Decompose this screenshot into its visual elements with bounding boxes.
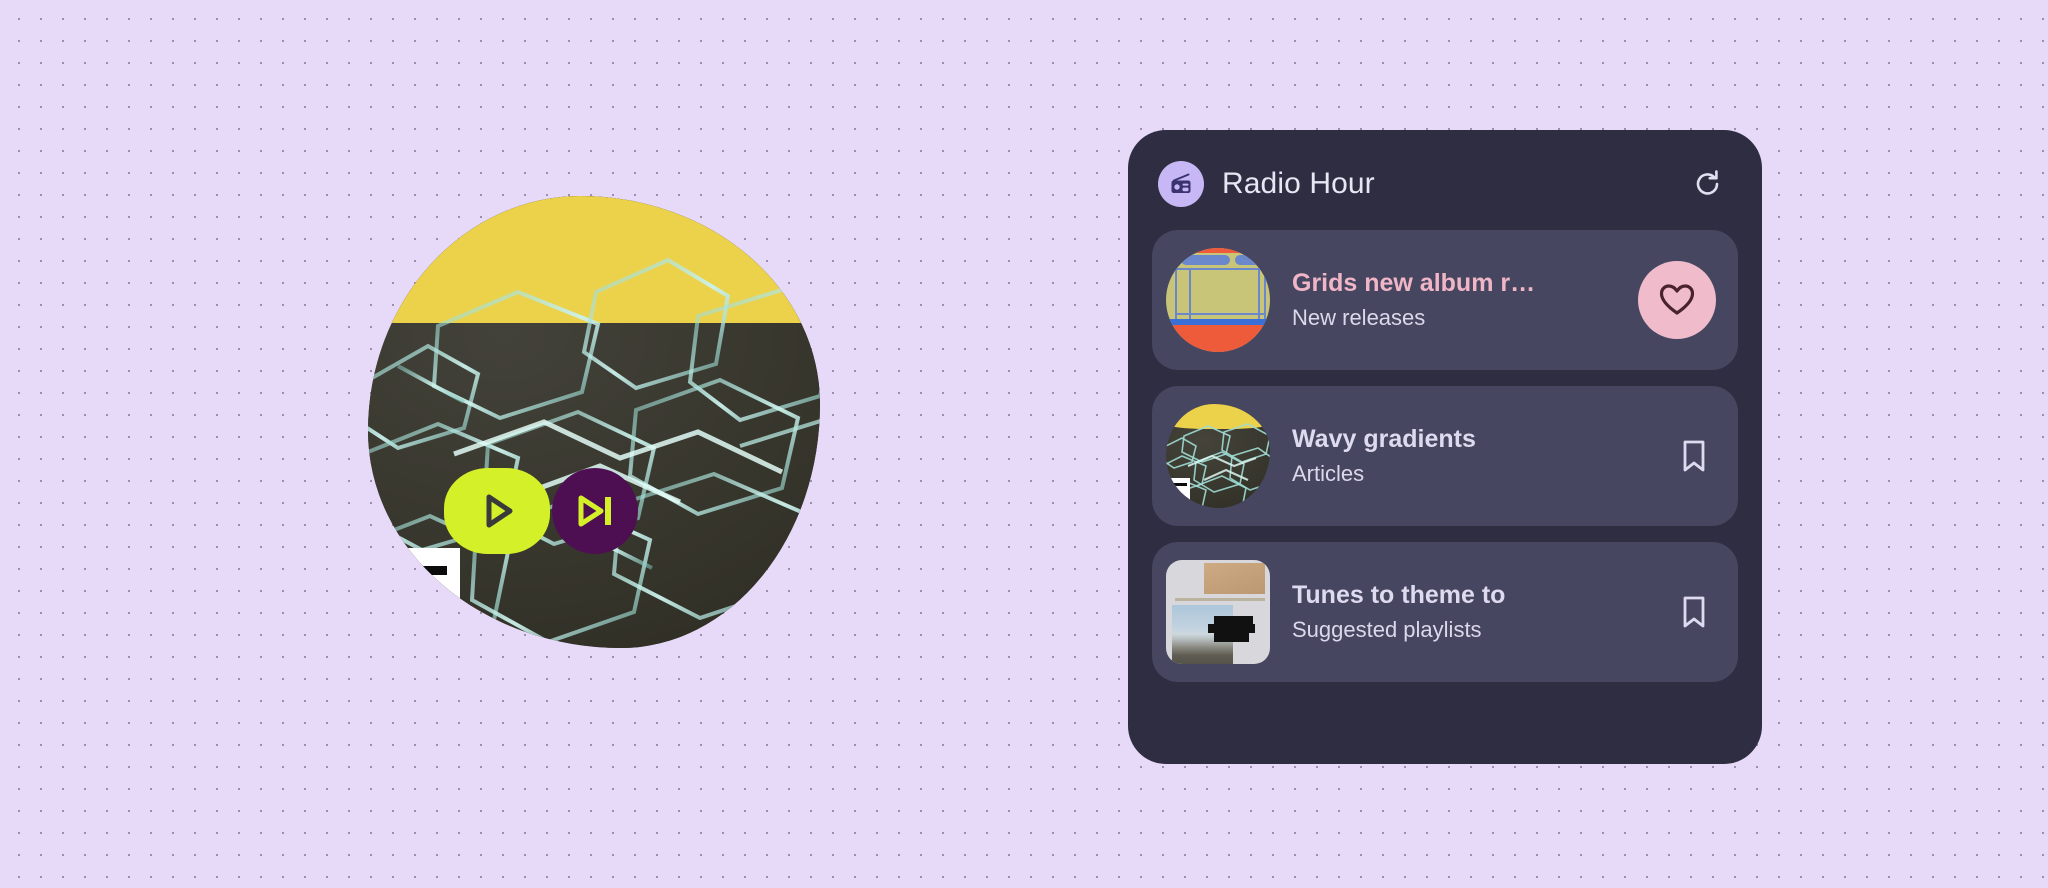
list-item-title: Wavy gradients: [1292, 424, 1672, 455]
album-artwork: [368, 196, 820, 648]
radio-hour-card: Radio Hour Grids new: [1128, 130, 1762, 764]
list-item-text: Grids new album r… New releases: [1292, 268, 1638, 332]
list-item-text: Wavy gradients Articles: [1292, 424, 1672, 488]
like-button[interactable]: [1638, 261, 1716, 339]
bookmark-button[interactable]: [1672, 434, 1716, 478]
list-item[interactable]: Tunes to theme to Suggested playlists: [1152, 542, 1738, 682]
wavy-gradient-thumbnail: [1166, 404, 1270, 508]
list-item[interactable]: Wavy gradients Articles: [1152, 386, 1738, 526]
radio-icon: [1158, 161, 1204, 207]
play-icon: [476, 490, 518, 532]
play-button[interactable]: [444, 468, 550, 554]
list-item-subtitle: Suggested playlists: [1292, 616, 1672, 644]
refresh-icon: [1692, 168, 1724, 200]
heart-icon: [1659, 283, 1695, 317]
refresh-button[interactable]: [1686, 162, 1730, 206]
skip-next-icon: [574, 490, 616, 532]
radio-icon-glyph: [1168, 171, 1194, 197]
artwork-corner-square: [374, 548, 460, 640]
next-button[interactable]: [552, 468, 638, 554]
list-item-title: Tunes to theme to: [1292, 580, 1672, 611]
artwork-blob: [368, 196, 820, 648]
list-item[interactable]: Grids new album r… New releases: [1152, 230, 1738, 370]
list-item-title: Grids new album r…: [1292, 268, 1638, 299]
beach-article-thumbnail: [1166, 560, 1270, 664]
feed-list: Grids new album r… New releases: [1152, 230, 1738, 682]
bookmark-icon: [1679, 439, 1709, 473]
list-item-subtitle: Articles: [1292, 460, 1672, 488]
page-title: Radio Hour: [1222, 167, 1686, 201]
grid-poster-thumbnail: [1166, 248, 1270, 352]
bookmark-icon: [1679, 595, 1709, 629]
bookmark-button[interactable]: [1672, 590, 1716, 634]
list-item-subtitle: New releases: [1292, 304, 1638, 332]
card-header: Radio Hour: [1152, 152, 1738, 216]
list-item-text: Tunes to theme to Suggested playlists: [1292, 580, 1672, 644]
